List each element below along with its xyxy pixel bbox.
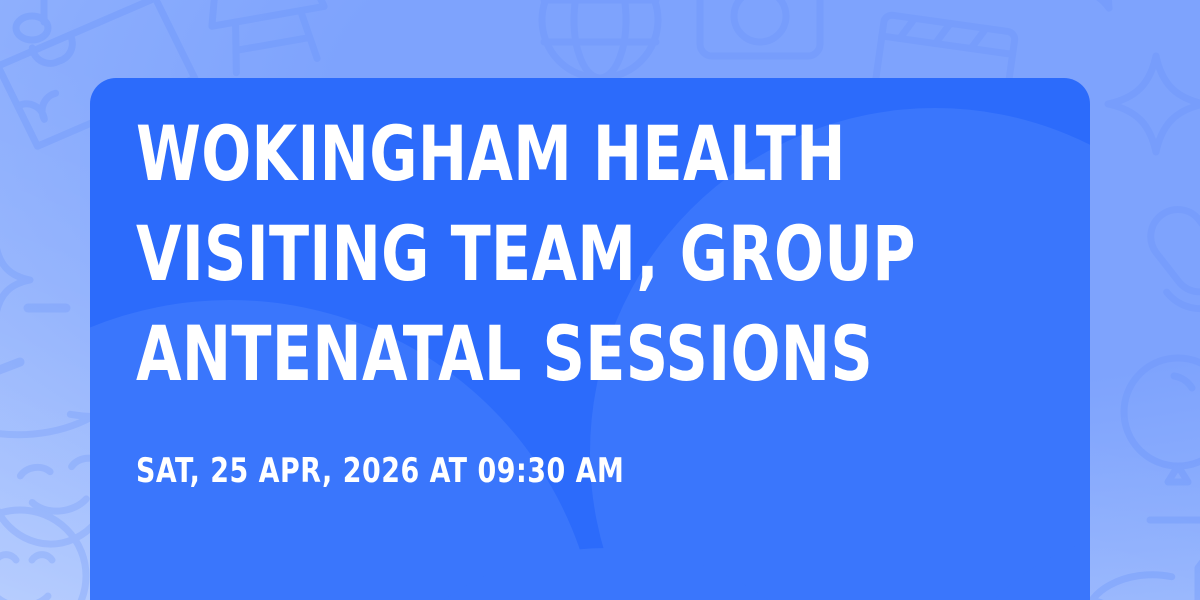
easel-icon [207,0,333,75]
event-card: Wokingham Health Visiting Team, Group An… [90,78,1090,600]
event-date: Sat, 25 Apr, 2026 at 09:30 AM [136,404,935,490]
star-icon [0,246,30,314]
event-banner: Wokingham Health Visiting Team, Group An… [0,0,1200,600]
globe-icon [542,0,658,78]
balloon-icon [1124,358,1200,482]
sparkle-icon [1108,56,1200,152]
glass-icon [1150,520,1200,600]
camera-icon [700,0,820,56]
decor-circle [326,548,886,600]
sparkle-icon [1062,0,1135,19]
event-title: Wokingham Health Visiting Team, Group An… [136,78,917,404]
microphone-icon [1127,189,1200,352]
event-card-body: Wokingham Health Visiting Team, Group An… [90,78,1090,490]
decor-circle [926,530,1090,600]
smiley-face-icon [0,510,86,600]
